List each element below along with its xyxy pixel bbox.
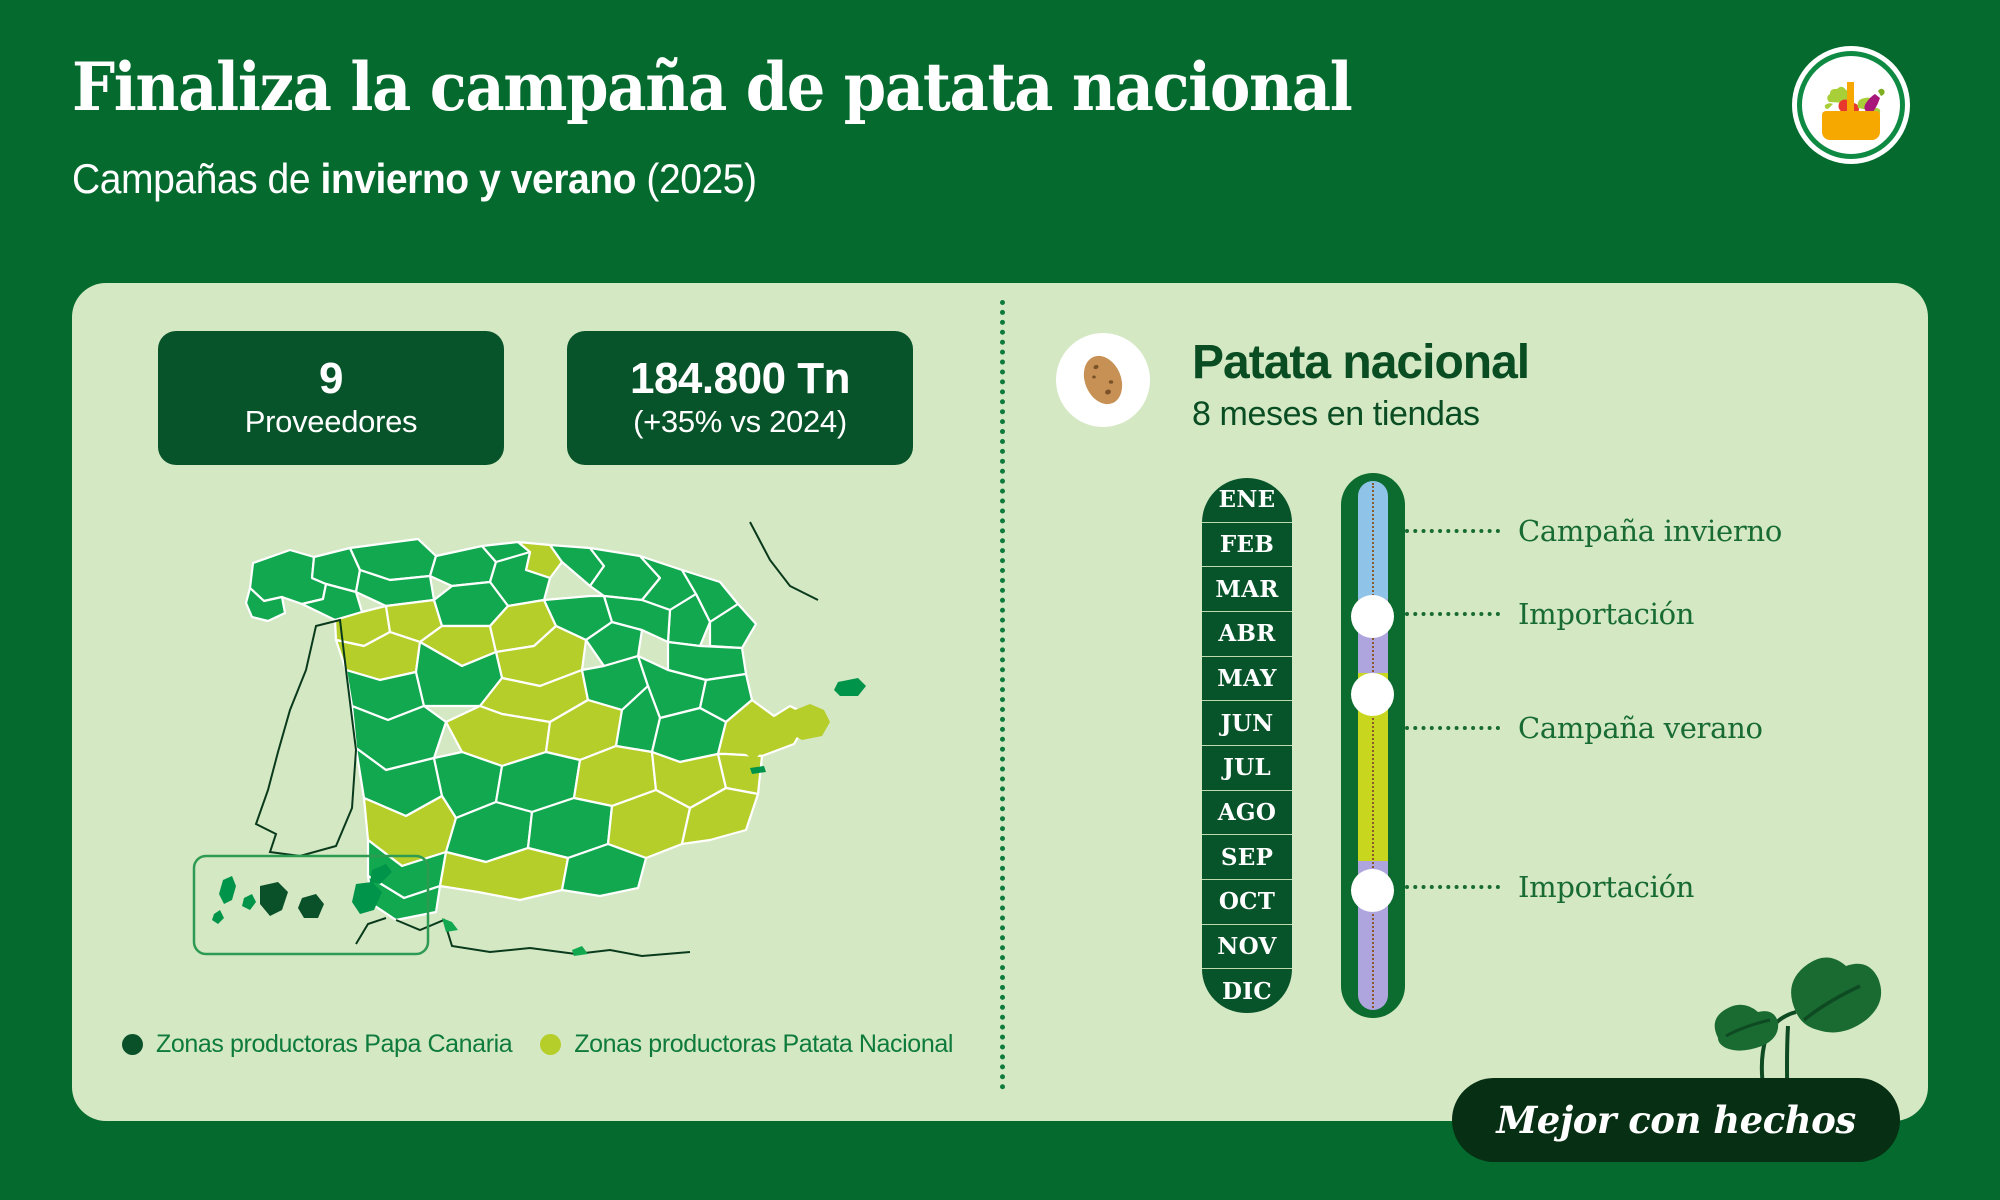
- month-cell-oct[interactable]: OCT: [1202, 880, 1292, 925]
- potato-badge: [1056, 333, 1150, 427]
- legend-label: Zonas productoras Papa Canaria: [156, 1030, 512, 1059]
- page-subtitle: Campañas de invierno y verano (2025): [72, 155, 757, 203]
- stat-card-tonelaje: 184.800 Tn (+35% vs 2024): [567, 331, 913, 465]
- morocco-outline: [396, 920, 690, 956]
- timeline-legend-row-3: Importación: [1405, 870, 1694, 904]
- month-cell-nov[interactable]: NOV: [1202, 925, 1292, 970]
- legend-leader-line: [1405, 885, 1500, 889]
- month-cell-ene[interactable]: ENE: [1202, 478, 1292, 523]
- stat-value: 184.800 Tn: [630, 356, 850, 402]
- subtitle-emphasis: invierno y verano: [320, 155, 636, 202]
- france-outline: [750, 522, 818, 600]
- month-cell-ago[interactable]: AGO: [1202, 791, 1292, 836]
- legend-leader-line: [1405, 726, 1500, 730]
- brand-tagline-pill: Mejor con hechos: [1452, 1078, 1900, 1162]
- month-cell-feb[interactable]: FEB: [1202, 523, 1292, 568]
- vertical-divider: [1000, 300, 1005, 1090]
- campaign-timeline: [1341, 473, 1405, 1018]
- legend-label: Campaña invierno: [1518, 514, 1782, 548]
- logo-ring: [1797, 51, 1905, 159]
- legend-dot-lime: [540, 1034, 561, 1055]
- month-cell-mar[interactable]: MAR: [1202, 567, 1292, 612]
- stat-label: Proveedores: [245, 403, 417, 440]
- timeline-legend-row-1: Importación: [1405, 597, 1694, 631]
- header: Finaliza la campaña de patata nacional C…: [0, 0, 2000, 250]
- legend-dot-dark: [122, 1034, 143, 1055]
- page-title: Finaliza la campaña de patata nacional: [72, 48, 1351, 126]
- legend-label: Importación: [1518, 597, 1694, 631]
- month-cell-dic[interactable]: DIC: [1202, 969, 1292, 1013]
- potato-icon: [1072, 349, 1134, 411]
- legend-label: Importación: [1518, 870, 1694, 904]
- subtitle-suffix: (2025): [636, 155, 757, 202]
- legend-leader-line: [1405, 612, 1500, 616]
- tagline-text: Mejor con hechos: [1496, 1098, 1855, 1142]
- spain-map: [190, 500, 930, 980]
- subtitle-prefix: Campañas de: [72, 155, 320, 202]
- stat-value: 9: [319, 356, 343, 402]
- stat-card-proveedores: 9 Proveedores: [158, 331, 504, 465]
- timeline-legend-row-2: Campaña verano: [1405, 711, 1763, 745]
- month-cell-jun[interactable]: JUN: [1202, 701, 1292, 746]
- timeline-node-3: [1351, 869, 1394, 912]
- legend-item-papa-canaria: Zonas productoras Papa Canaria: [122, 1030, 512, 1059]
- legend-label: Campaña verano: [1518, 711, 1763, 745]
- month-cell-may[interactable]: MAY: [1202, 657, 1292, 702]
- legend-label: Zonas productoras Patata Nacional: [574, 1030, 953, 1059]
- timeline-legend-row-0: Campaña invierno: [1405, 514, 1782, 548]
- timeline-node-1: [1351, 595, 1394, 638]
- month-cell-sep[interactable]: SEP: [1202, 835, 1292, 880]
- panel-title: Patata nacional: [1192, 335, 1529, 390]
- month-column: ENEFEBMARABRMAYJUNJULAGOSEPOCTNOVDIC: [1202, 478, 1292, 1013]
- legend-leader-line: [1405, 529, 1500, 533]
- spain-provinces-map-icon: [190, 500, 930, 980]
- month-cell-abr[interactable]: ABR: [1202, 612, 1292, 657]
- timeline-node-2: [1351, 673, 1394, 716]
- stat-label: (+35% vs 2024): [633, 403, 847, 440]
- timeline-dotted-line: [1372, 483, 1374, 1008]
- map-legend: Zonas productoras Papa Canaria Zonas pro…: [122, 1030, 953, 1059]
- legend-item-patata-nacional: Zonas productoras Patata Nacional: [540, 1030, 953, 1059]
- brand-logo: [1792, 46, 1910, 164]
- month-cell-jul[interactable]: JUL: [1202, 746, 1292, 791]
- panel-subtitle: 8 meses en tiendas: [1192, 395, 1480, 434]
